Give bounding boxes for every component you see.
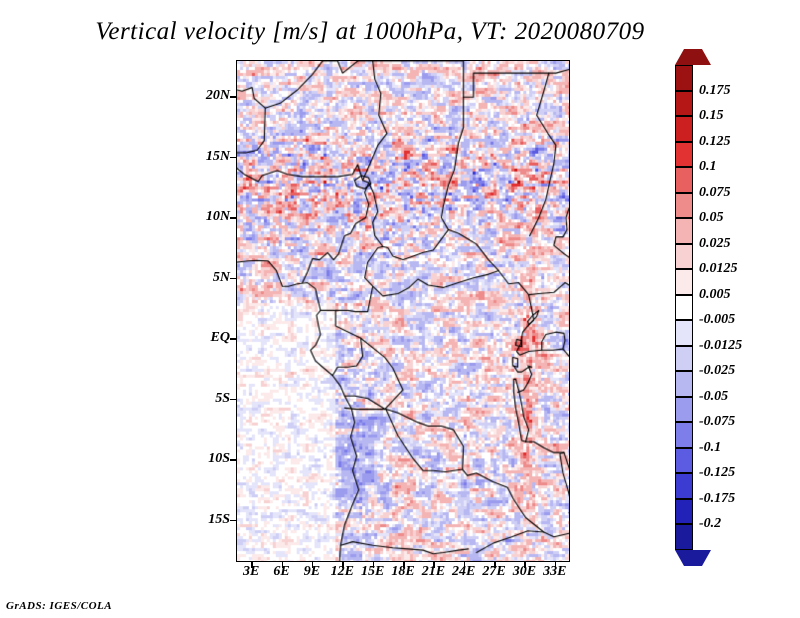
colorbar-swatch[interactable] — [675, 244, 693, 270]
y-axis-label: 5S — [186, 391, 230, 407]
colorbar-tick-label: 0.05 — [699, 210, 724, 226]
y-axis-tick — [230, 338, 236, 340]
colorbar-tick-label: -0.1 — [699, 440, 721, 456]
colorbar-swatch[interactable] — [675, 473, 693, 499]
x-axis-tick — [312, 562, 314, 568]
colorbar-tick-label: 0.075 — [699, 185, 731, 201]
colorbar-swatch[interactable] — [675, 193, 693, 219]
y-axis-tick — [230, 96, 236, 98]
colorbar-tick-label: -0.005 — [699, 312, 735, 328]
colorbar-tick-label: -0.175 — [699, 491, 735, 507]
colorbar-tick-label: 0.15 — [699, 108, 724, 124]
y-axis-label: 10S — [186, 451, 230, 467]
colorbar-swatch[interactable] — [675, 397, 693, 423]
colorbar-swatch[interactable] — [675, 65, 693, 91]
x-axis-tick — [282, 562, 284, 568]
x-axis-tick — [373, 562, 375, 568]
colorbar-swatch[interactable] — [675, 295, 693, 321]
colorbar-swatch[interactable] — [675, 422, 693, 448]
x-axis-tick — [464, 562, 466, 568]
x-axis-tick — [555, 562, 557, 568]
colorbar-tick-label: 0.025 — [699, 236, 731, 252]
y-axis-label: 5N — [186, 270, 230, 286]
colorbar[interactable] — [675, 65, 693, 550]
colorbar-tick-label: 0.005 — [699, 287, 731, 303]
colorbar-swatch[interactable] — [675, 91, 693, 117]
colorbar-tick-label: -0.125 — [699, 465, 735, 481]
colorbar-swatch[interactable] — [675, 269, 693, 295]
colorbar-tick-label: 0.0125 — [699, 261, 738, 277]
y-axis-label: 15N — [186, 149, 230, 165]
colorbar-tick-label: -0.05 — [699, 389, 728, 405]
colorbar-swatch[interactable] — [675, 499, 693, 525]
colorbar-top-arrow-icon — [675, 49, 711, 65]
x-axis-tick — [342, 562, 344, 568]
x-axis-tick — [403, 562, 405, 568]
colorbar-tick-label: 0.1 — [699, 159, 717, 175]
x-axis-tick — [251, 562, 253, 568]
colorbar-swatch[interactable] — [675, 116, 693, 142]
colorbar-bottom-arrow-icon — [675, 550, 711, 566]
colorbar-swatch[interactable] — [675, 346, 693, 372]
y-axis-tick — [230, 459, 236, 461]
colorbar-tick-label: 0.125 — [699, 134, 731, 150]
y-axis-label: 10N — [186, 209, 230, 225]
y-axis-tick — [230, 399, 236, 401]
y-axis-tick — [230, 520, 236, 522]
colorbar-tick-label: -0.0125 — [699, 338, 742, 354]
footer-credit: GrADS: IGES/COLA — [6, 600, 112, 612]
y-axis-tick — [230, 217, 236, 219]
y-axis-label: 20N — [186, 88, 230, 104]
x-axis-tick — [494, 562, 496, 568]
colorbar-tick-label: -0.025 — [699, 363, 735, 379]
map-plot-area[interactable] — [236, 60, 570, 562]
colorbar-tick-label: -0.075 — [699, 414, 735, 430]
x-axis-tick — [524, 562, 526, 568]
colorbar-swatch[interactable] — [675, 142, 693, 168]
colorbar-tick-label: -0.2 — [699, 516, 721, 532]
y-axis-label: 15S — [186, 512, 230, 528]
y-axis-tick — [230, 157, 236, 159]
page-title: Vertical velocity [m/s] at 1000hPa, VT: … — [0, 18, 740, 46]
x-axis-tick — [433, 562, 435, 568]
y-axis-tick — [230, 278, 236, 280]
colorbar-swatch[interactable] — [675, 524, 693, 550]
colorbar-tick-label: 0.175 — [699, 83, 731, 99]
country-borders-overlay — [237, 61, 569, 561]
colorbar-swatch[interactable] — [675, 167, 693, 193]
colorbar-swatch[interactable] — [675, 218, 693, 244]
colorbar-swatch[interactable] — [675, 448, 693, 474]
y-axis-label: EQ — [186, 330, 230, 346]
colorbar-swatch[interactable] — [675, 371, 693, 397]
colorbar-swatch[interactable] — [675, 320, 693, 346]
